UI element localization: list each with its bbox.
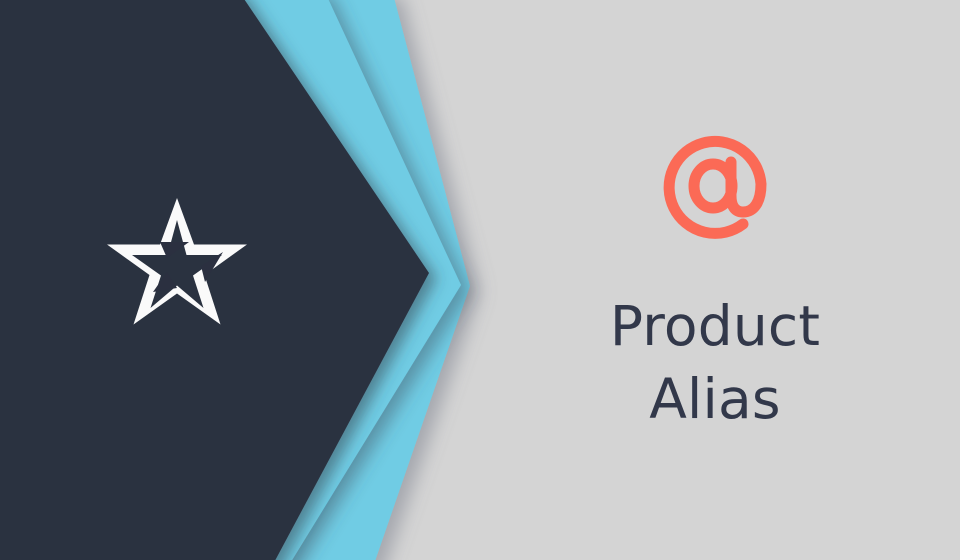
poster-canvas: Product Alias: [0, 0, 960, 560]
at-sign-icon: [659, 128, 771, 240]
star-outline-icon: [105, 196, 249, 330]
brand-logo: [105, 196, 249, 330]
page-title: Product Alias: [610, 290, 820, 435]
right-content-panel: Product Alias: [470, 0, 960, 560]
at-sign-badge: [645, 124, 785, 244]
title-line-1: Product: [610, 290, 820, 363]
title-line-2: Alias: [610, 363, 820, 436]
